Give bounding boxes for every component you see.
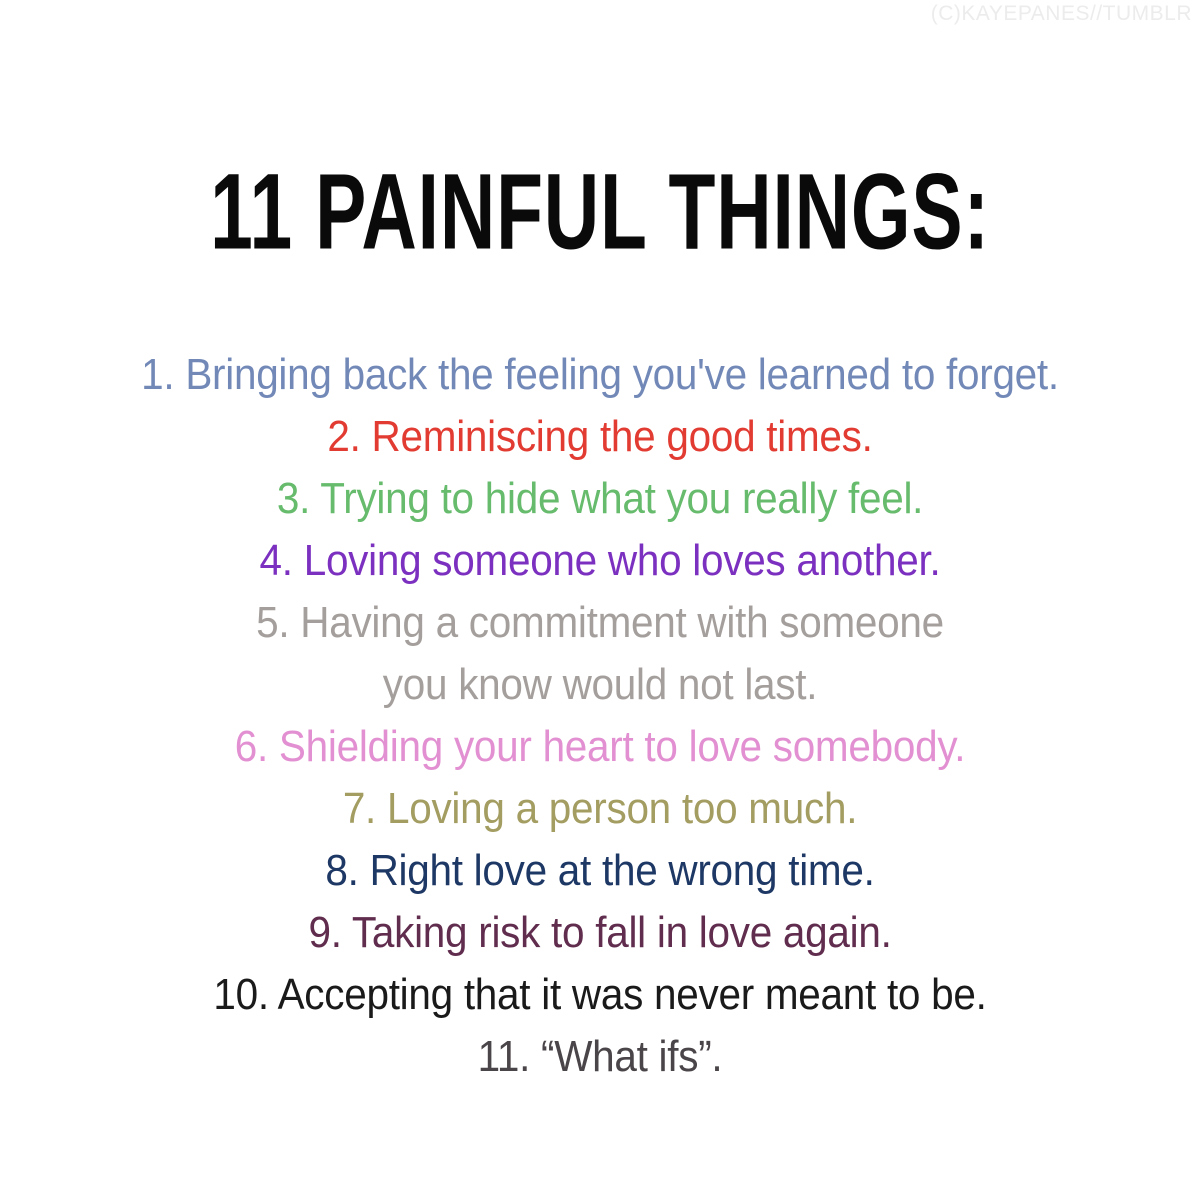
- list-item: 5. Having a commitment with someone you …: [48, 592, 1152, 716]
- poster-canvas: (C)KAYEPANES//TUMBLR 11 PAINFUL THINGS: …: [0, 0, 1200, 1200]
- list-item: 11. “What ifs”.: [48, 1026, 1152, 1088]
- list-item: 8. Right love at the wrong time.: [48, 840, 1152, 902]
- list-item: 3. Trying to hide what you really feel.: [48, 468, 1152, 530]
- watermark-credit: (C)KAYEPANES//TUMBLR: [931, 2, 1192, 26]
- list-item: 9. Taking risk to fall in love again.: [48, 902, 1152, 964]
- list-item: 1. Bringing back the feeling you've lear…: [48, 344, 1152, 406]
- list-item: 10. Accepting that it was never meant to…: [48, 964, 1152, 1026]
- list-item: 6. Shielding your heart to love somebody…: [48, 716, 1152, 778]
- painful-things-list: 1. Bringing back the feeling you've lear…: [0, 344, 1200, 1088]
- list-item: 4. Loving someone who loves another.: [48, 530, 1152, 592]
- page-title: 11 PAINFUL THINGS:: [120, 159, 1080, 267]
- list-item: 7. Loving a person too much.: [48, 778, 1152, 840]
- list-item: 2. Reminiscing the good times.: [48, 406, 1152, 468]
